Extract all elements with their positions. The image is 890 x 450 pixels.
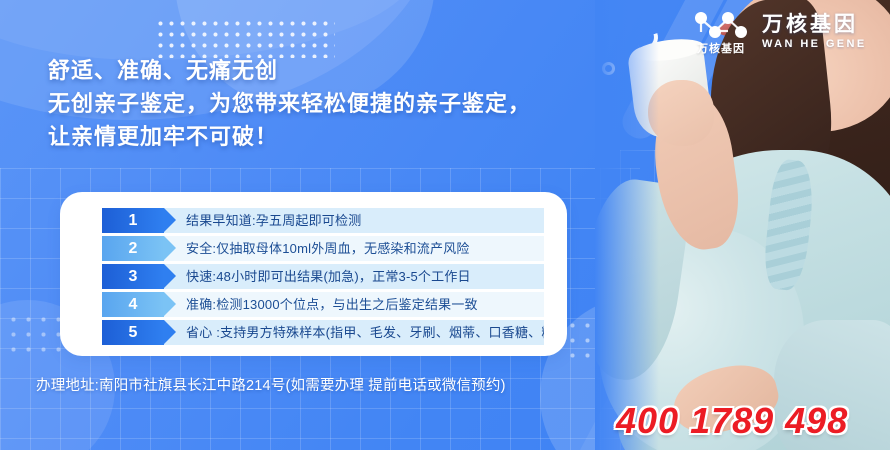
decorative-band-top [0,0,420,60]
office-address: 办理地址:南阳市社旗县长江中路214号(如需要办理 提前电话或微信预约) [36,374,506,395]
headline: 舒适、准确、无痛无创 无创亲子鉴定，为您带来轻松便捷的亲子鉴定， 让亲情更加牢不… [48,54,531,153]
list-item: 4 准确:检测13000个位点，与出生之后鉴定结果一致 [102,292,544,317]
feature-text: 安全:仅抽取母体10ml外周血，无感染和流产风险 [164,236,544,261]
feature-text: 快速:48小时即可出结果(加急)，正常3-5个工作日 [164,264,544,289]
list-item: 3 快速:48小时即可出结果(加急)，正常3-5个工作日 [102,264,544,289]
hotline-phone-number[interactable]: 400 1789 498 [616,400,848,442]
feature-number-badge: 4 [102,292,164,317]
molecule-dna-icon: 万核基因 [690,8,752,54]
logo-mark-caption: 万核基因 [690,40,752,56]
headline-line-1: 舒适、准确、无痛无创 [48,54,531,87]
feature-number-badge: 2 [102,236,164,261]
feature-list: 1 结果早知道:孕五周起即可检测 2 安全:仅抽取母体10ml外周血，无感染和流… [102,208,544,348]
logo-text: 万核基因 WAN HE GENE [762,12,867,50]
feature-text: 省心 :支持男方特殊样本(指甲、毛发、牙刷、烟蒂、口香糖、精斑等) [164,320,544,345]
list-item: 1 结果早知道:孕五周起即可检测 [102,208,544,233]
feature-number-badge: 5 [102,320,164,345]
headline-line-3: 让亲情更加牢不可破！ [48,120,531,153]
feature-card: 1 结果早知道:孕五周起即可检测 2 安全:仅抽取母体10ml外周血，无感染和流… [60,192,567,356]
list-item: 2 安全:仅抽取母体10ml外周血，无感染和流产风险 [102,236,544,261]
photo-left-fade [595,0,659,450]
feature-number-badge: 1 [102,208,164,233]
brand-logo[interactable]: 万核基因 万核基因 WAN HE GENE [690,8,867,54]
dot-grid-top [155,18,335,58]
logo-name-cn: 万核基因 [762,14,867,35]
feature-number-badge: 3 [102,264,164,289]
logo-name-en: WAN HE GENE [762,39,867,50]
headline-line-2: 无创亲子鉴定，为您带来轻松便捷的亲子鉴定， [48,87,531,120]
promo-banner: 万核基因 万核基因 WAN HE GENE 舒适、准确、无痛无创 无创亲子鉴定，… [0,0,890,450]
feature-text: 结果早知道:孕五周起即可检测 [164,208,544,233]
pregnant-woman-photo [595,0,890,450]
feature-text: 准确:检测13000个位点，与出生之后鉴定结果一致 [164,292,544,317]
list-item: 5 省心 :支持男方特殊样本(指甲、毛发、牙刷、烟蒂、口香糖、精斑等) [102,320,544,345]
